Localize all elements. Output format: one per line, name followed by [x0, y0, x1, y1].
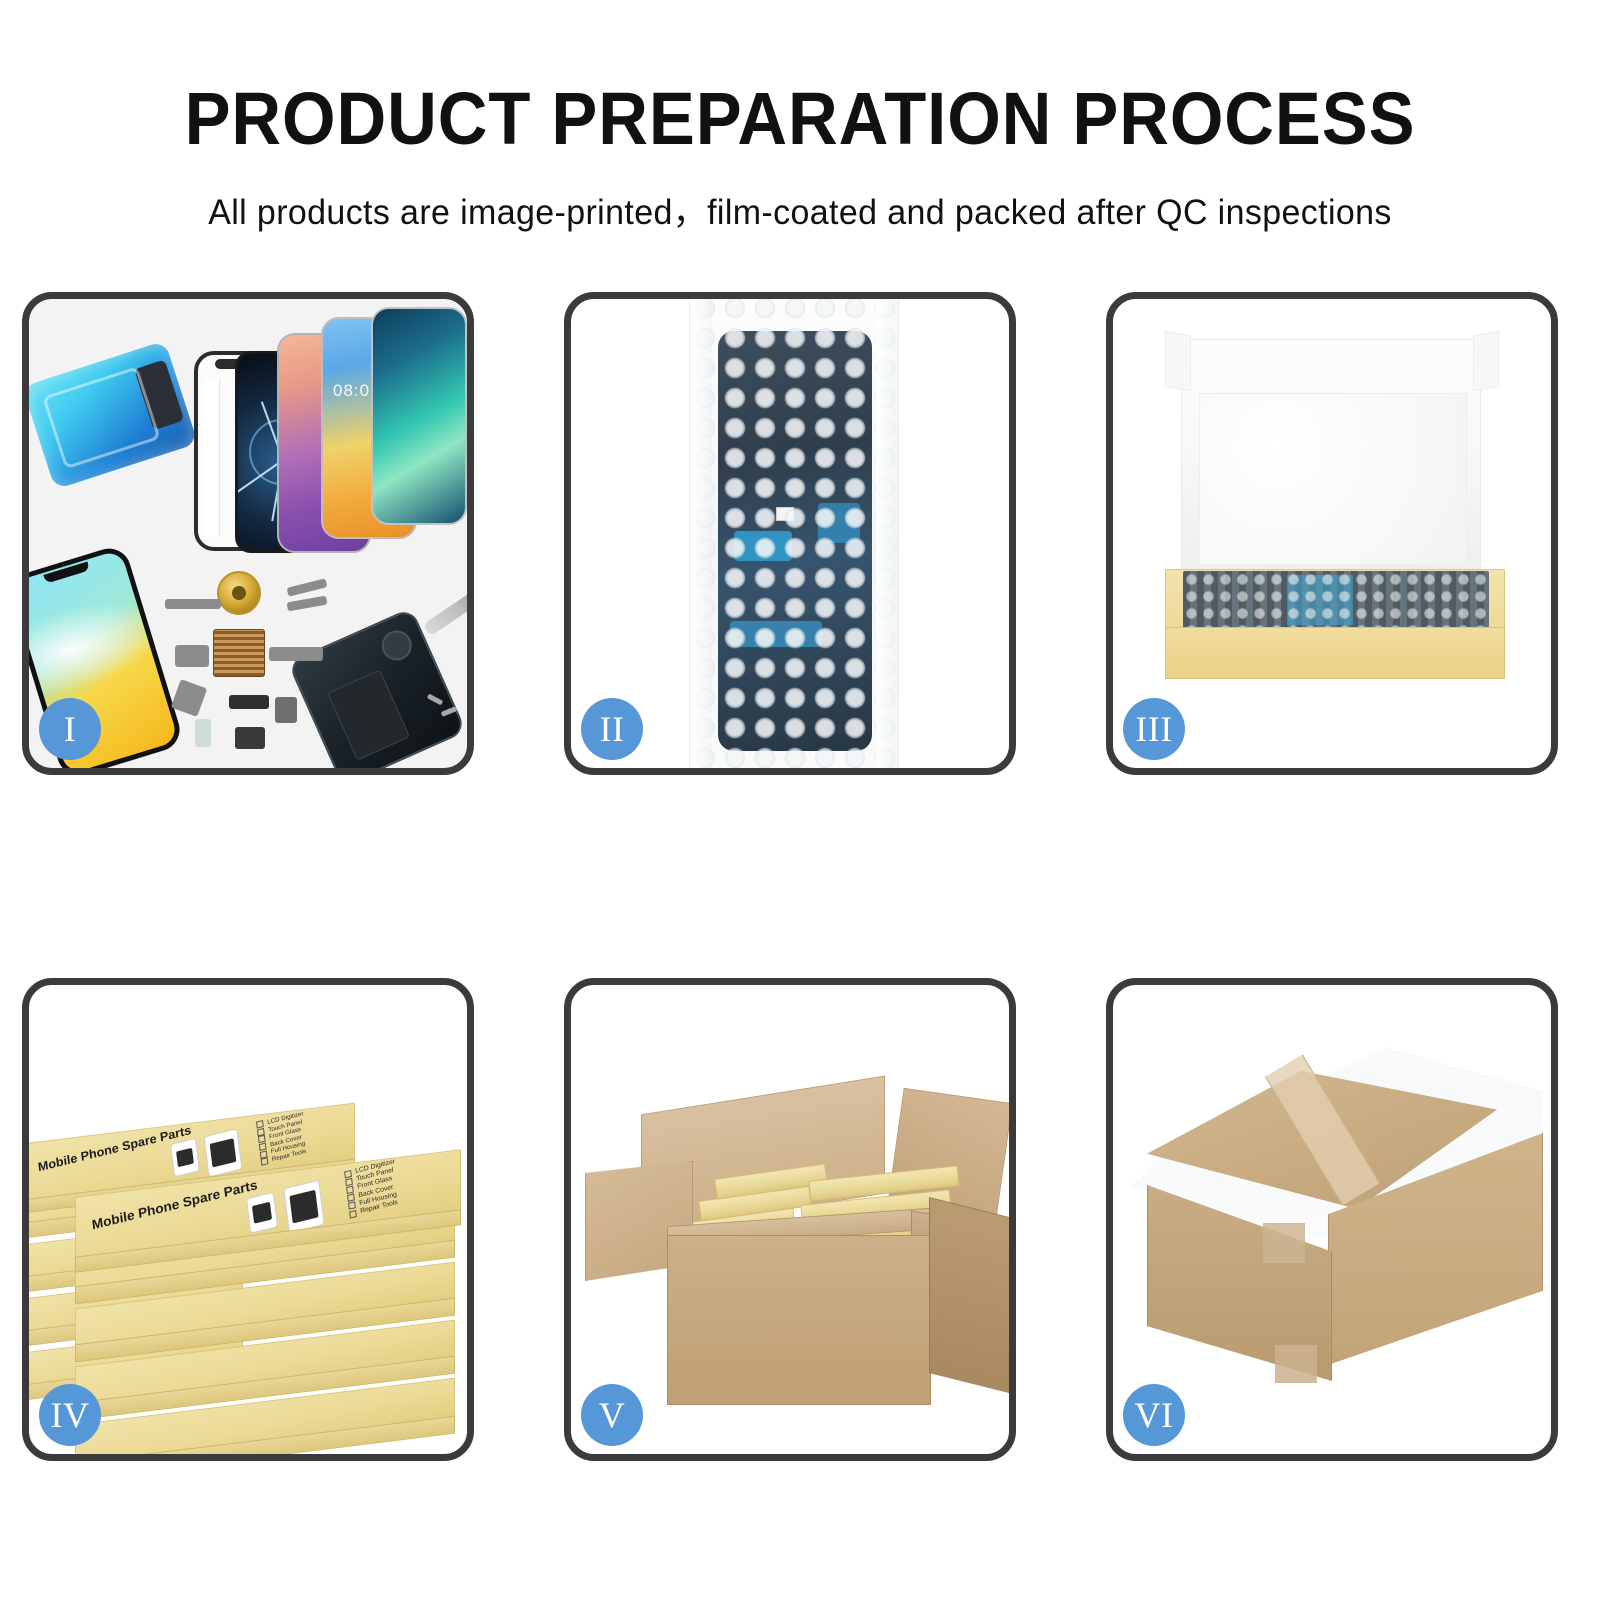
sealed-carton-illustration: [1113, 985, 1551, 1454]
repair-brush-art: [423, 588, 474, 637]
carton-side-face: [929, 1197, 1016, 1397]
retail-box-checklist-front: LCD Digitizer Touch Panel Front Glass Ba…: [344, 1158, 401, 1219]
step-badge-1: I: [39, 698, 101, 760]
step-badge-6: VI: [1123, 1384, 1185, 1446]
wrap-seam-left: [690, 293, 712, 775]
bubble-texture: [690, 293, 898, 775]
lid-tab-left: [1165, 331, 1191, 392]
step-panel-3[interactable]: III: [1106, 292, 1558, 775]
step-panel-5[interactable]: V: [564, 978, 1016, 1461]
open-carton-illustration: [571, 985, 1009, 1454]
page-subtitle: All products are image-printed，film-coat…: [24, 184, 1576, 235]
wrapped-item-in-box: [1183, 571, 1489, 629]
process-step-grid: 08:08: [0, 292, 1600, 1462]
bubble-wrap-sleeve: [689, 293, 899, 775]
spare-parts-illustration: 08:08: [29, 299, 467, 768]
header: PRODUCT PREPARATION PROCESS All products…: [0, 0, 1600, 235]
step-badge-5: V: [581, 1384, 643, 1446]
teal-phone-art: [371, 307, 467, 525]
open-retail-box-illustration: [1113, 299, 1551, 768]
stacked-retail-boxes-illustration: Mobile Phone Spare Parts LCD Digitizer T…: [29, 985, 467, 1454]
tape-tab-upper: [1263, 1223, 1305, 1263]
step-panel-2[interactable]: II: [564, 292, 1016, 775]
wrap-seam-right: [876, 293, 898, 775]
step-panel-1[interactable]: 08:08: [22, 292, 474, 775]
step-badge-4: IV: [39, 1384, 101, 1446]
retail-box-checklist-rear: LCD Digitizer Touch Panel Front Glass Ba…: [256, 1110, 309, 1166]
product-preparation-infographic: PRODUCT PREPARATION PROCESS All products…: [0, 0, 1600, 1600]
gold-box-front-wall: [1165, 627, 1505, 679]
lid-tab-right: [1473, 331, 1499, 392]
page-title: PRODUCT PREPARATION PROCESS: [56, 82, 1544, 156]
adhesive-frame-art: [22, 340, 198, 489]
step-badge-2: II: [581, 698, 643, 760]
step-badge-3: III: [1123, 698, 1185, 760]
ic-chip-art: [213, 629, 265, 677]
step-panel-4[interactable]: Mobile Phone Spare Parts LCD Digitizer T…: [22, 978, 474, 1461]
step-panel-6[interactable]: VI: [1106, 978, 1558, 1461]
bubble-wrapped-screen-illustration: [571, 299, 1009, 768]
retail-box-brand-text-rear: Mobile Phone Spare Parts: [37, 1123, 192, 1174]
screws-art: [427, 697, 467, 723]
tape-tab-lower: [1275, 1345, 1317, 1383]
phone-backplate-art: [287, 607, 467, 775]
wireless-coil-art: [217, 571, 261, 615]
foam-insert: [1199, 393, 1467, 565]
carton-front-face: [667, 1235, 931, 1405]
